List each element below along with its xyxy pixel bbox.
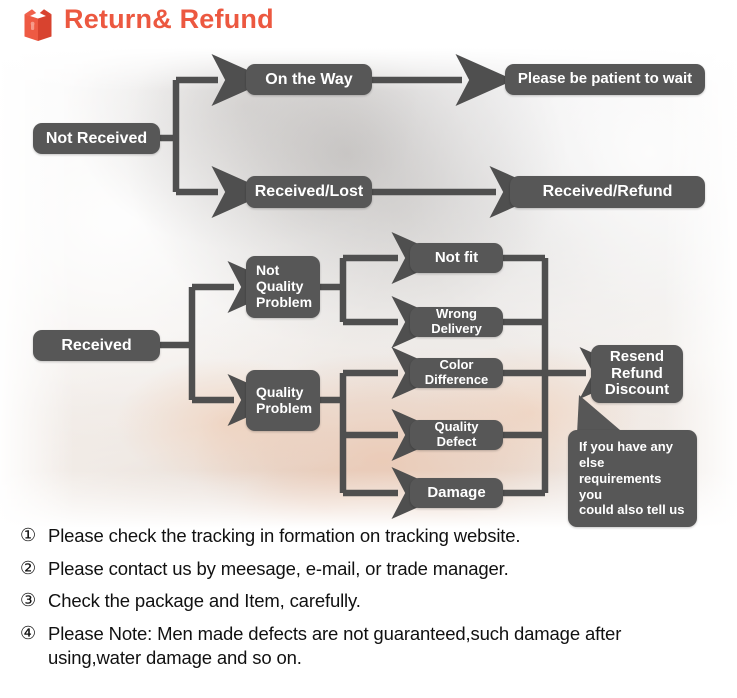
node-label-line1: Resend	[610, 349, 664, 366]
note-number: ①	[20, 524, 48, 547]
node-color-difference[interactable]: Color Difference	[410, 358, 503, 388]
node-not-fit[interactable]: Not fit	[410, 243, 503, 273]
node-wrong-delivery[interactable]: Wrong Delivery	[410, 307, 503, 337]
node-not-quality-problem[interactable]: Not Quality Problem	[246, 256, 320, 318]
node-damage[interactable]: Damage	[410, 478, 503, 508]
note-text: Please contact us by meesage, e-mail, or…	[48, 557, 509, 581]
node-label: Color Difference	[416, 358, 497, 387]
bubble-line1: If you have any else	[579, 439, 687, 471]
note-number: ②	[20, 557, 48, 580]
node-label: Not Received	[46, 130, 147, 148]
page-title: Return& Refund	[64, 4, 274, 35]
note-number: ③	[20, 589, 48, 612]
node-label-line2: Problem	[256, 401, 312, 417]
node-on-the-way[interactable]: On the Way	[246, 64, 372, 95]
return-refund-infographic: Return& Refund	[0, 0, 737, 698]
note-item: ① Please check the tracking in formation…	[20, 524, 737, 548]
node-label: Quality Defect	[416, 420, 497, 449]
note-text: Check the package and Item, carefully.	[48, 589, 361, 613]
node-label-line2: Refund	[611, 366, 663, 383]
node-quality-defect[interactable]: Quality Defect	[410, 420, 503, 450]
node-label: Received/Lost	[255, 183, 363, 201]
note-text: Please Note: Men made defects are not gu…	[48, 622, 708, 669]
package-box-icon	[22, 8, 54, 42]
node-received[interactable]: Received	[33, 330, 160, 361]
note-number: ④	[20, 622, 48, 645]
notes-list: ① Please check the tracking in formation…	[0, 524, 737, 678]
node-label: Received	[61, 337, 131, 355]
note-item: ② Please contact us by meesage, e-mail, …	[20, 557, 737, 581]
node-resend-refund-discount[interactable]: Resend Refund Discount	[591, 345, 683, 403]
bubble-line3: could also tell us	[579, 502, 687, 518]
speech-bubble-note: If you have any else requirements you co…	[568, 430, 697, 527]
bubble-line2: requirements you	[579, 471, 687, 503]
node-label: On the Way	[265, 71, 352, 89]
node-received-lost[interactable]: Received/Lost	[246, 176, 372, 208]
note-item: ③ Check the package and Item, carefully.	[20, 589, 737, 613]
note-text: Please check the tracking in formation o…	[48, 524, 520, 548]
node-label-line3: Discount	[605, 382, 669, 399]
node-label-line1: Not	[256, 263, 279, 279]
header: Return& Refund	[0, 0, 737, 50]
node-label: Wrong Delivery	[416, 307, 497, 336]
node-please-be-patient-to-wait[interactable]: Please be patient to wait	[505, 64, 705, 95]
node-label: Not fit	[435, 250, 478, 267]
node-label: Damage	[427, 485, 485, 502]
node-label-line3: Problem	[256, 295, 312, 311]
node-received-refund[interactable]: Received/Refund	[510, 176, 705, 208]
node-label: Please be patient to wait	[518, 71, 692, 88]
note-item: ④ Please Note: Men made defects are not …	[20, 622, 737, 669]
node-label-line1: Quality	[256, 385, 303, 401]
node-quality-problem[interactable]: Quality Problem	[246, 370, 320, 431]
node-label: Received/Refund	[543, 183, 673, 201]
node-label-line2: Quality	[256, 279, 303, 295]
node-not-received[interactable]: Not Received	[33, 123, 160, 154]
